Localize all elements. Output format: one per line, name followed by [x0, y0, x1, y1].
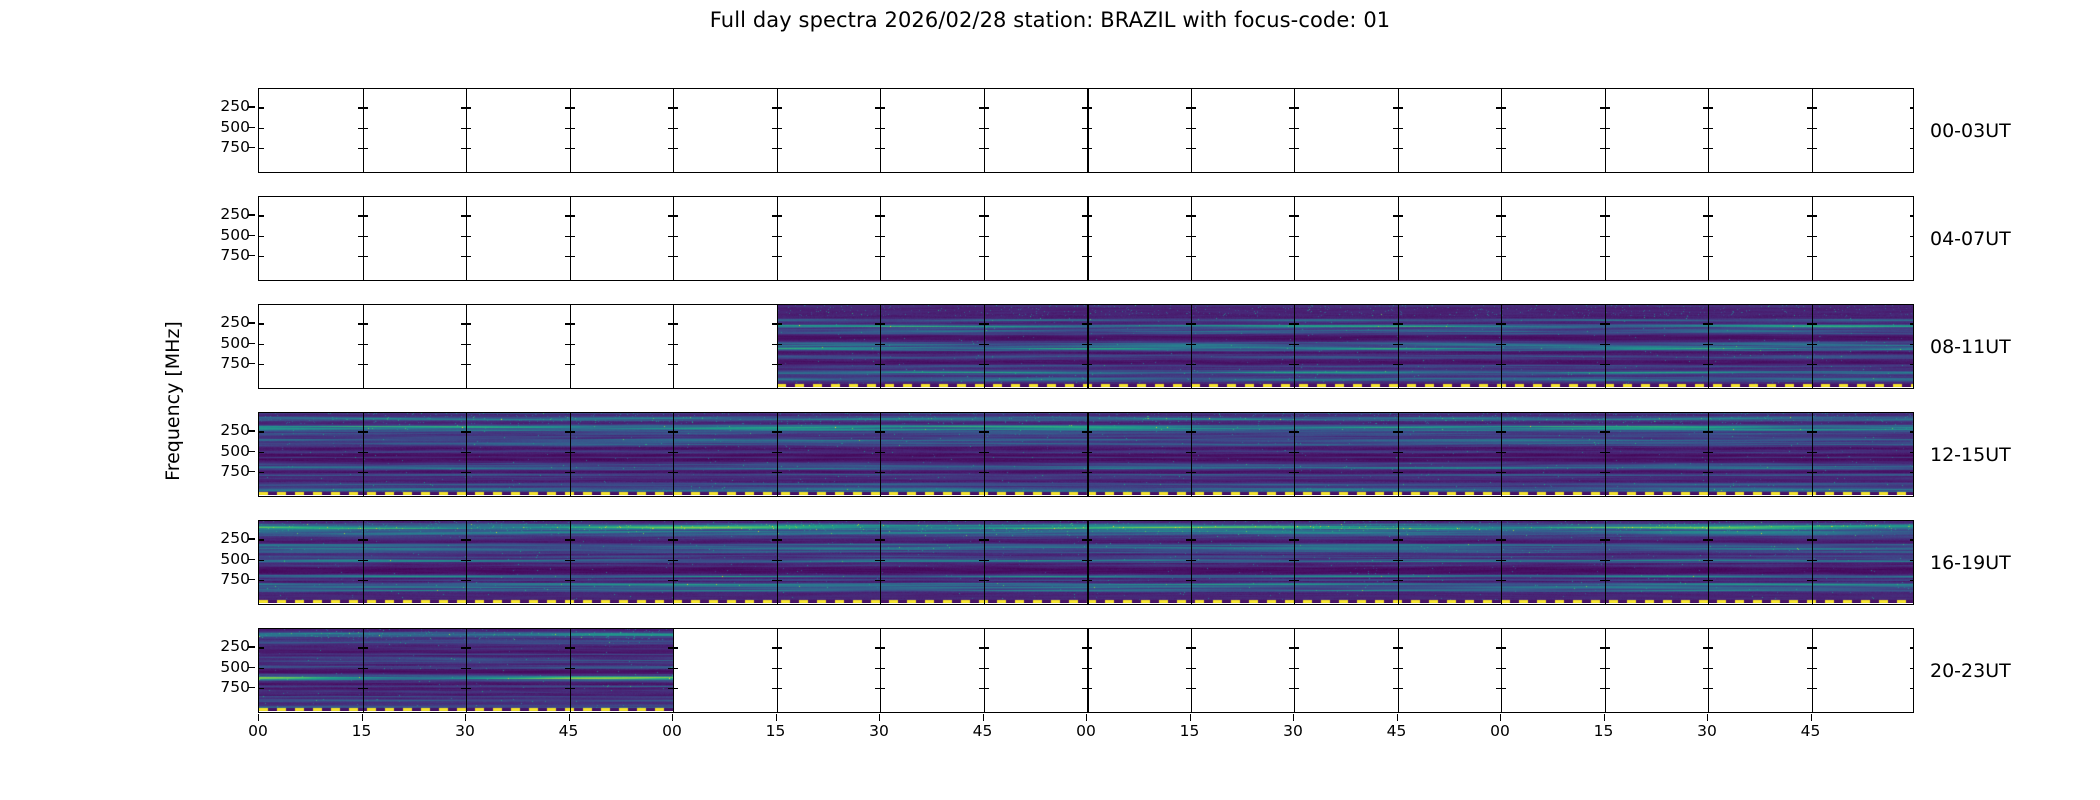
- y-tick-label: 750: [220, 462, 250, 480]
- spectrogram-data-3: [777, 305, 1915, 388]
- row-time-label-3: 08-11UT: [1930, 336, 2011, 358]
- x-tick-label: 15: [1180, 722, 1200, 740]
- plot-area: [258, 88, 1914, 714]
- y-tick-label: 500: [220, 226, 250, 244]
- y-tick-mark: [248, 451, 255, 452]
- x-tick-mark: [672, 714, 673, 721]
- x-tick-label: 15: [1594, 722, 1614, 740]
- spectrogram-row-1: [258, 88, 1914, 173]
- x-tick-label: 15: [352, 722, 372, 740]
- x-tick-mark: [879, 714, 880, 721]
- y-tick-mark: [248, 127, 255, 128]
- y-tick-mark: [248, 343, 255, 344]
- x-tick-mark: [983, 714, 984, 721]
- y-tick-label: 250: [220, 313, 250, 331]
- x-tick-mark: [1500, 714, 1501, 721]
- y-tick-mark: [248, 363, 255, 364]
- x-tick-label: 00: [248, 722, 268, 740]
- y-tick-mark: [248, 687, 255, 688]
- y-tick-label: 750: [220, 570, 250, 588]
- x-tick-label: 45: [1801, 722, 1821, 740]
- y-tick-mark: [248, 559, 255, 560]
- y-tick-label: 500: [220, 334, 250, 352]
- spectrogram-row-4: [258, 412, 1914, 497]
- y-tick-mark: [248, 322, 255, 323]
- y-tick-label: 250: [220, 97, 250, 115]
- x-tick-mark: [465, 714, 466, 721]
- y-tick-label: 250: [220, 529, 250, 547]
- x-tick-label: 30: [455, 722, 475, 740]
- x-tick-mark: [569, 714, 570, 721]
- panel-separators: [259, 197, 1913, 280]
- x-tick-label: 00: [662, 722, 682, 740]
- panel-separators: [259, 89, 1913, 172]
- y-tick-mark: [248, 214, 255, 215]
- x-tick-label: 00: [1076, 722, 1096, 740]
- x-tick-label: 30: [869, 722, 889, 740]
- x-tick-label: 15: [766, 722, 786, 740]
- x-tick-mark: [1707, 714, 1708, 721]
- x-tick-label: 45: [1387, 722, 1407, 740]
- y-tick-mark: [248, 255, 255, 256]
- y-tick-label: 500: [220, 550, 250, 568]
- x-tick-mark: [1604, 714, 1605, 721]
- y-tick-mark: [248, 430, 255, 431]
- x-tick-label: 00: [1490, 722, 1510, 740]
- x-axis-tick-labels: 00153045001530450015304500153045: [258, 722, 1914, 748]
- figure-canvas: Full day spectra 2026/02/28 station: BRA…: [0, 0, 2100, 800]
- x-tick-label: 30: [1283, 722, 1303, 740]
- y-tick-mark: [248, 579, 255, 580]
- y-axis-tick-labels: 2505007502505007502505007502505007502505…: [150, 88, 250, 714]
- y-tick-label: 750: [220, 354, 250, 372]
- x-tick-mark: [1293, 714, 1294, 721]
- y-tick-mark: [248, 646, 255, 647]
- y-tick-label: 500: [220, 118, 250, 136]
- row-time-label-6: 20-23UT: [1930, 660, 2011, 682]
- x-tick-label: 45: [559, 722, 579, 740]
- y-tick-mark: [248, 147, 255, 148]
- y-tick-label: 750: [220, 246, 250, 264]
- spectrogram-data-6: [259, 629, 673, 712]
- spectrogram-data-4: [259, 413, 1914, 496]
- spectrogram-row-2: [258, 196, 1914, 281]
- y-tick-label: 250: [220, 421, 250, 439]
- y-tick-mark: [248, 471, 255, 472]
- y-tick-label: 500: [220, 658, 250, 676]
- x-tick-mark: [1190, 714, 1191, 721]
- figure-title: Full day spectra 2026/02/28 station: BRA…: [0, 8, 2100, 32]
- spectrogram-row-5: [258, 520, 1914, 605]
- x-tick-mark: [776, 714, 777, 721]
- y-tick-mark: [248, 106, 255, 107]
- x-tick-mark: [258, 714, 259, 721]
- spectrogram-data-5: [259, 521, 1914, 604]
- y-tick-label: 750: [220, 678, 250, 696]
- y-tick-mark: [248, 538, 255, 539]
- x-tick-mark: [1086, 714, 1087, 721]
- x-tick-label: 30: [1697, 722, 1717, 740]
- spectrogram-row-6: [258, 628, 1914, 713]
- row-time-label-4: 12-15UT: [1930, 444, 2011, 466]
- x-tick-mark: [1397, 714, 1398, 721]
- y-tick-label: 250: [220, 205, 250, 223]
- y-tick-mark: [248, 667, 255, 668]
- row-time-label-1: 00-03UT: [1930, 120, 2011, 142]
- x-tick-label: 45: [973, 722, 993, 740]
- y-tick-label: 250: [220, 637, 250, 655]
- row-time-label-5: 16-19UT: [1930, 552, 2011, 574]
- x-tick-mark: [362, 714, 363, 721]
- y-tick-mark: [248, 235, 255, 236]
- y-tick-label: 500: [220, 442, 250, 460]
- y-tick-label: 750: [220, 138, 250, 156]
- x-tick-mark: [1811, 714, 1812, 721]
- row-time-label-2: 04-07UT: [1930, 228, 2011, 250]
- spectrogram-row-3: [258, 304, 1914, 389]
